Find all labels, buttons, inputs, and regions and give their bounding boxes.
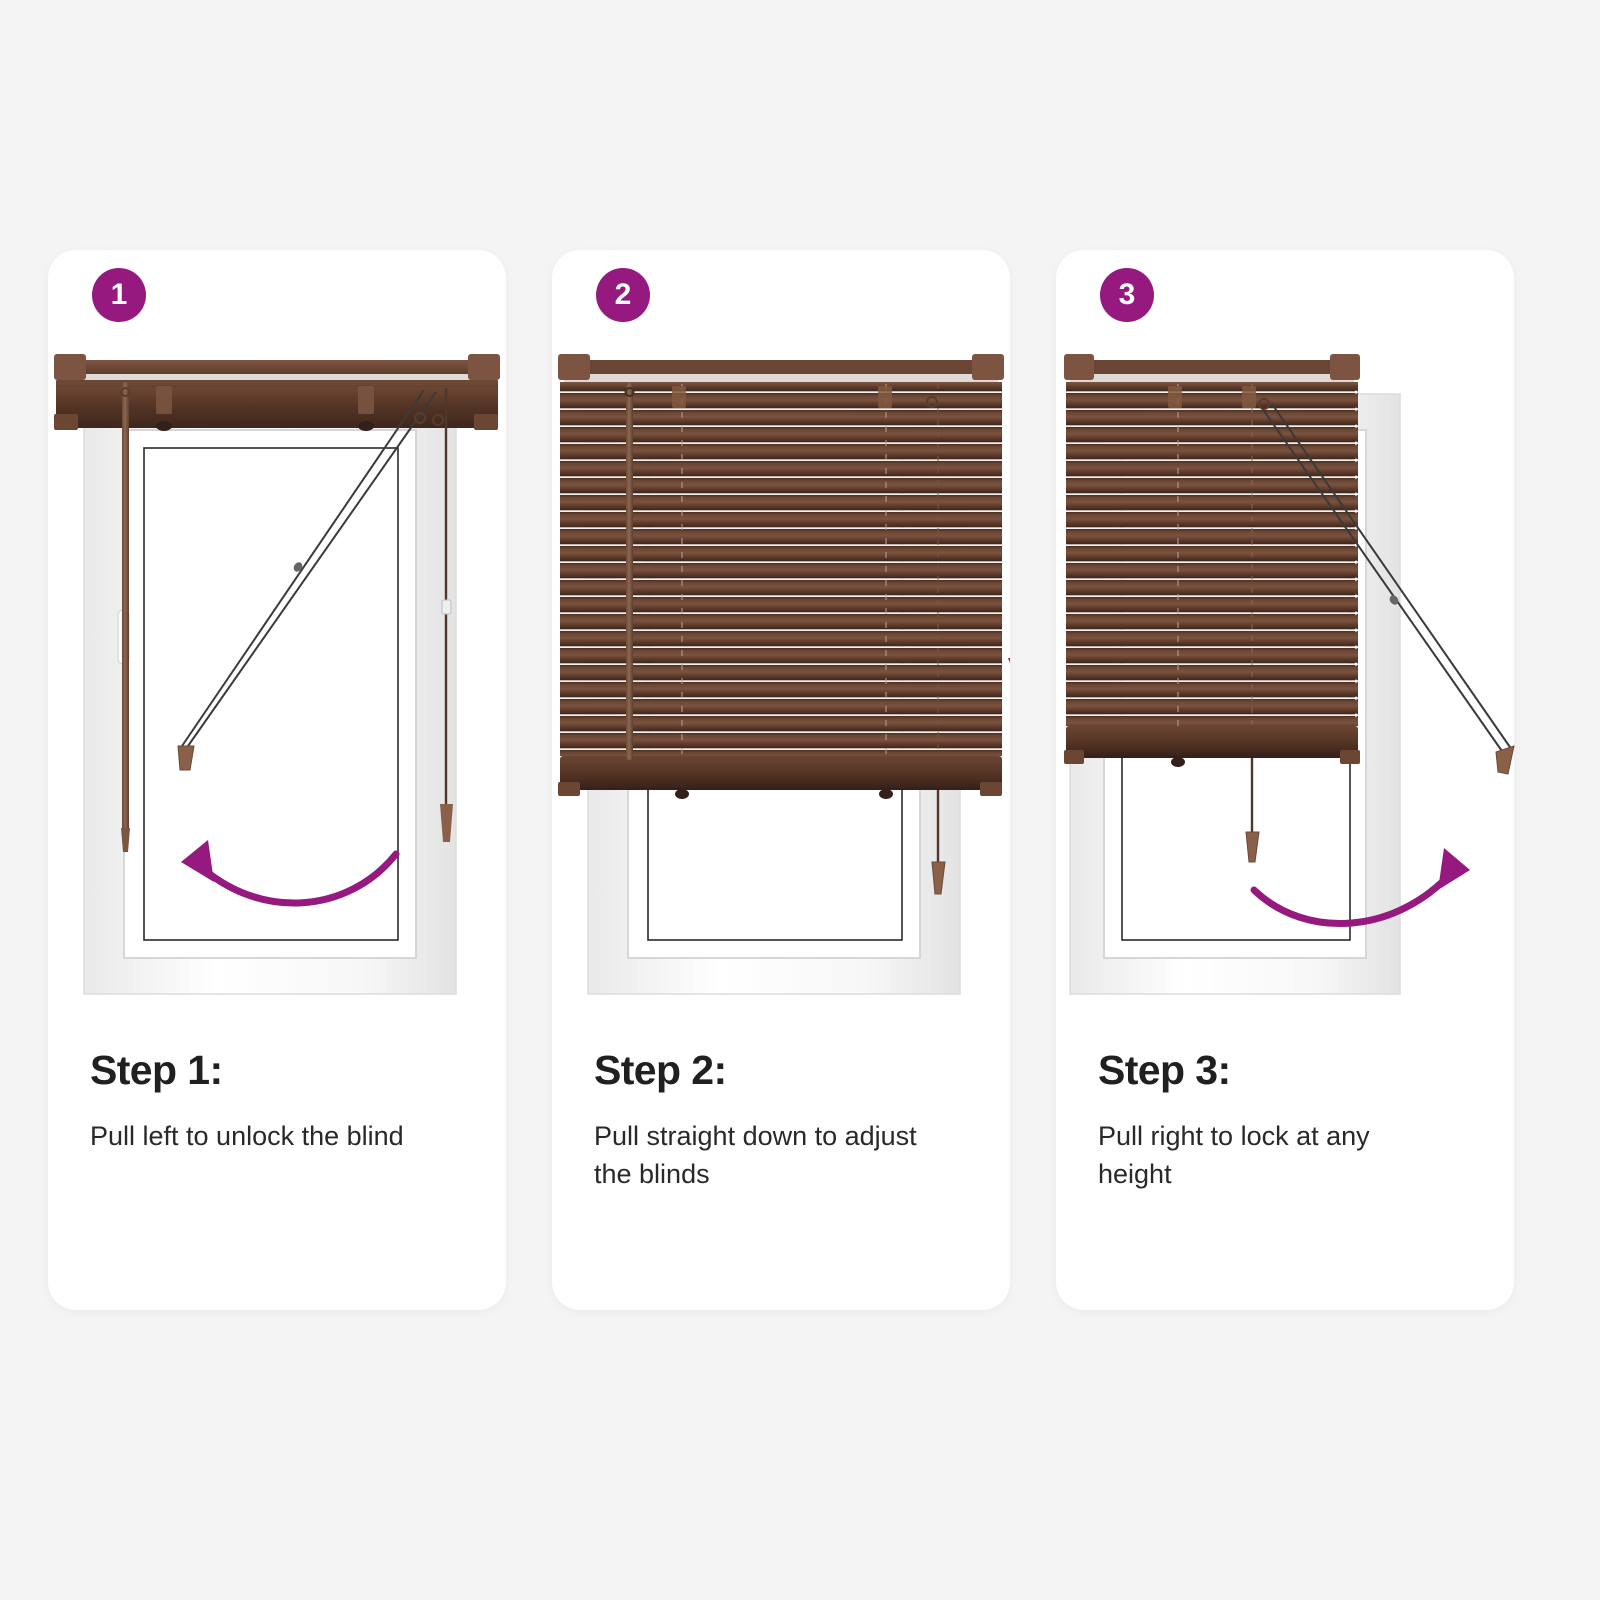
step-title-2: Step 2: — [594, 1050, 974, 1091]
step-badge-2: 2 — [596, 268, 650, 322]
step-card-1: 1 — [48, 250, 506, 1310]
instruction-diagram: 1 — [0, 0, 1600, 1600]
step-text-3: Step 3: Pull right to lock at any height — [1098, 1050, 1478, 1194]
window-blind-locked-icon — [1056, 342, 1514, 1042]
step-card-2: 2 — [552, 250, 1010, 1310]
step-description-1: Pull left to unlock the blind — [90, 1117, 420, 1155]
window-blind-raised-icon — [48, 342, 506, 1042]
step-title-1: Step 1: — [90, 1050, 470, 1091]
step-number-3: 3 — [1119, 280, 1136, 310]
step-description-3: Pull right to lock at any height — [1098, 1117, 1428, 1194]
step-card-3: 3 — [1056, 250, 1514, 1310]
step-title-3: Step 3: — [1098, 1050, 1478, 1091]
step-text-1: Step 1: Pull left to unlock the blind — [90, 1050, 470, 1155]
step-text-2: Step 2: Pull straight down to adjust the… — [594, 1050, 974, 1194]
step-badge-3: 3 — [1100, 268, 1154, 322]
step-badge-1: 1 — [92, 268, 146, 322]
step-number-1: 1 — [111, 280, 128, 310]
window-blind-lowering-icon — [552, 342, 1010, 1042]
step-number-2: 2 — [615, 280, 632, 310]
step-description-2: Pull straight down to adjust the blinds — [594, 1117, 924, 1194]
